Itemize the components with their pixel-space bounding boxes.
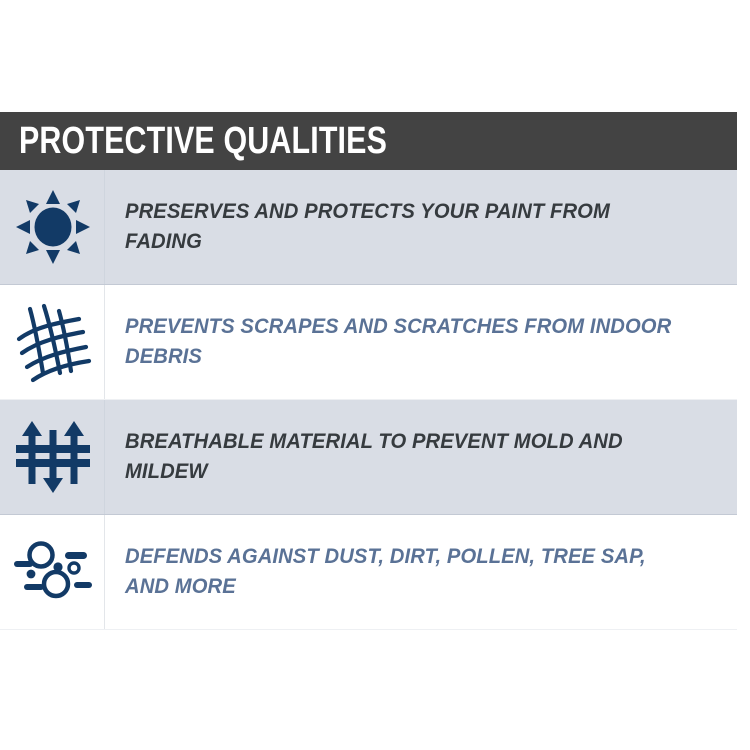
icon-cell: [0, 400, 105, 514]
feature-row-breathable: BREATHABLE MATERIAL TO PREVENT MOLD AND …: [0, 400, 737, 515]
feature-label: PRESERVES AND PROTECTS YOUR PAINT FROM F…: [125, 197, 678, 256]
icon-cell: [0, 285, 105, 399]
feature-row-dust: DEFENDS AGAINST DUST, DIRT, POLLEN, TREE…: [0, 515, 737, 630]
panel-header: PROTECTIVE QUALITIES: [0, 112, 737, 170]
icon-cell: [0, 515, 105, 629]
feature-label: PREVENTS SCRAPES AND SCRATCHES FROM INDO…: [125, 312, 678, 371]
feature-label: BREATHABLE MATERIAL TO PREVENT MOLD AND …: [125, 427, 678, 486]
page-title: PROTECTIVE QUALITIES: [19, 122, 387, 160]
text-cell: PRESERVES AND PROTECTS YOUR PAINT FROM F…: [105, 170, 737, 284]
feature-row-scratches: PREVENTS SCRAPES AND SCRATCHES FROM INDO…: [0, 285, 737, 400]
feature-row-fading: PRESERVES AND PROTECTS YOUR PAINT FROM F…: [0, 170, 737, 285]
dust-particles-icon: [12, 535, 94, 609]
protective-qualities-panel: PROTECTIVE QUALITIES: [0, 112, 737, 630]
text-cell: PREVENTS SCRAPES AND SCRATCHES FROM INDO…: [105, 285, 737, 399]
scratch-mesh-icon: [13, 301, 93, 383]
text-cell: BREATHABLE MATERIAL TO PREVENT MOLD AND …: [105, 400, 737, 514]
feature-label: DEFENDS AGAINST DUST, DIRT, POLLEN, TREE…: [125, 542, 678, 601]
icon-cell: [0, 170, 105, 284]
text-cell: DEFENDS AGAINST DUST, DIRT, POLLEN, TREE…: [105, 515, 737, 629]
sun-icon: [16, 190, 90, 264]
breathable-airflow-icon: [14, 418, 92, 496]
